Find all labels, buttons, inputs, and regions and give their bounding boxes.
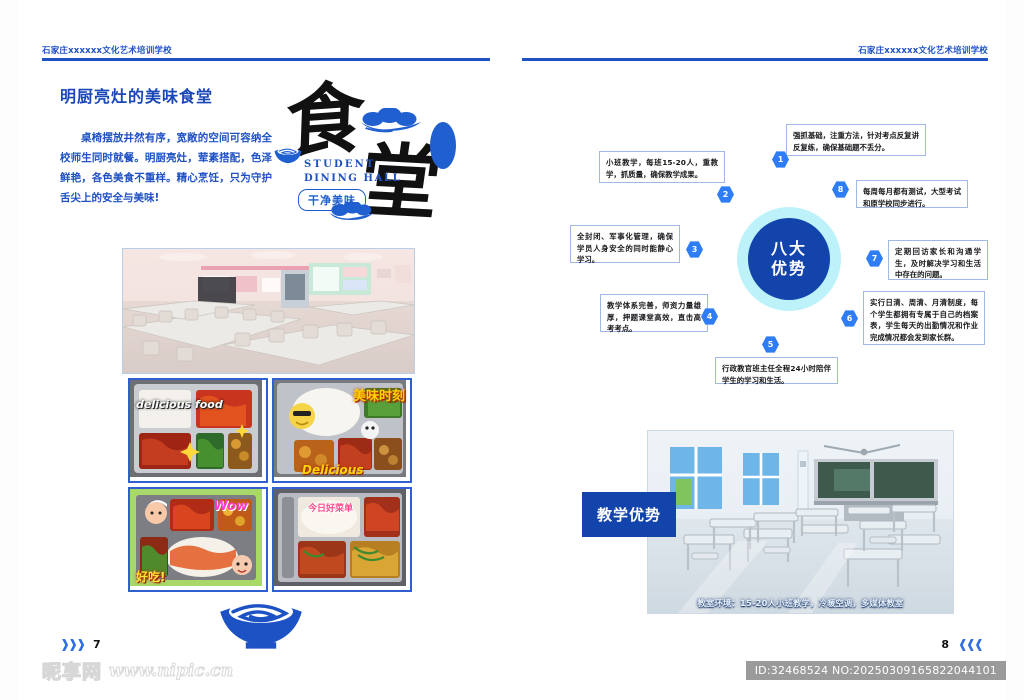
- page-title: 明厨亮灶的美味食堂: [60, 83, 213, 107]
- canteen-photo: [122, 248, 415, 374]
- logo-english-line1: STUDENT: [304, 159, 376, 170]
- page-number-left: 7: [93, 638, 101, 651]
- center-label-line2: 优势: [771, 259, 807, 279]
- id-bar: ID:32468524 NO:20250309165822044101: [746, 661, 1006, 680]
- food-photo-grid: delicious food: [128, 378, 408, 590]
- chevron-right-icon: ❱❱❱: [60, 637, 84, 651]
- page-number-left-wrap: ❱❱❱ 7: [60, 637, 101, 651]
- watermark: 昵享网 www.nipic.cn: [42, 657, 233, 684]
- advantage-box-6: 实行日清、周清、月清制度，每个学生都拥有专属于自己的档案表，学生每天的出勤情况和…: [863, 291, 985, 345]
- left-page: 石家庄xxxxxx文化艺术培训学校 明厨亮灶的美味食堂 桌椅摆放井然有序，宽敞的…: [18, 0, 512, 700]
- watermark-url: www.nipic.cn: [109, 661, 233, 681]
- brochure-spread: 石家庄xxxxxx文化艺术培训学校 明厨亮灶的美味食堂 桌椅摆放井然有序，宽敞的…: [0, 0, 1024, 700]
- food-photo-3-overlay-top: Wow: [213, 499, 248, 514]
- food-photo-1: delicious food: [128, 378, 268, 483]
- advantage-box-7: 定期回访家长和沟通学生，及时解决学习和生活中存在的问题。: [888, 240, 988, 280]
- page-number-right: 8: [941, 638, 949, 651]
- food-photo-2-overlay-top: 美味时刻: [353, 385, 405, 404]
- header-rule-right: [522, 58, 988, 61]
- classroom-caption: 教室环境：15-20人小班教学，冷暖空调，多媒体教室: [648, 597, 953, 609]
- logo-english-line2: DINING HALL: [304, 173, 401, 184]
- dining-hall-logo: 食 堂 STUDENT: [276, 86, 476, 238]
- food-photo-2-overlay-bottom: Delicious: [302, 463, 363, 477]
- center-label-line1: 八大: [771, 239, 807, 259]
- page-number-right-wrap: 8 ❰❰❰: [941, 637, 982, 651]
- header-title-right: 石家庄xxxxxx文化艺术培训学校: [858, 44, 988, 56]
- logo-ellipse-accent: [430, 122, 456, 169]
- advantage-box-4: 教学体系完善，师资力量雄厚，押题课堂高效，直击高考考点。: [600, 294, 708, 332]
- food-photo-4-overlay: 今日好菜单: [308, 501, 353, 514]
- bowl-icon-large: [217, 597, 305, 649]
- cloud-ornament-icon: [357, 108, 426, 134]
- food-photo-1-overlay: delicious food: [136, 398, 223, 411]
- food-photo-3: Wow 好吃!: [128, 487, 268, 592]
- food-photo-4: 今日好菜单: [272, 487, 412, 592]
- advantage-box-1: 强抓基础，注重方法，针对考点反复讲反复练，确保基础题不丢分。: [786, 124, 926, 156]
- advantage-box-3: 全封闭、军事化管理，确保学员人身安全的同时能静心学习。: [570, 225, 680, 263]
- header-rule-left: [42, 58, 490, 61]
- classroom-photo: 教室环境：15-20人小班教学，冷暖空调，多媒体教室: [647, 430, 954, 614]
- bowl-icon-small: [273, 144, 303, 166]
- logo-tagline: 干净美味: [298, 189, 366, 211]
- header-title-left: 石家庄xxxxxx文化艺术培训学校: [42, 44, 172, 56]
- food-photo-2: 美味时刻 Delicious: [272, 378, 412, 483]
- advantage-box-2: 小班教学，每班15-20人，重教学，抓质量，确保教学成果。: [599, 151, 725, 183]
- teaching-advantage-tag: 教学优势: [582, 492, 676, 537]
- intro-paragraph: 桌椅摆放井然有序，宽敞的空间可容纳全校师生同时就餐。明厨亮灶，荤素搭配，色泽鲜艳…: [60, 128, 272, 208]
- advantage-box-8: 每周每月都有测试，大型考试和原学校同步进行。: [856, 180, 968, 208]
- advantage-box-5: 行政教官班主任全程24小时陪伴学生的学习和生活。: [715, 357, 838, 384]
- food-photo-3-overlay-bottom: 好吃!: [136, 568, 165, 585]
- center-label: 八大 优势: [748, 218, 830, 300]
- watermark-brand: 昵享网: [42, 657, 102, 684]
- chevron-left-icon: ❰❰❰: [958, 637, 982, 651]
